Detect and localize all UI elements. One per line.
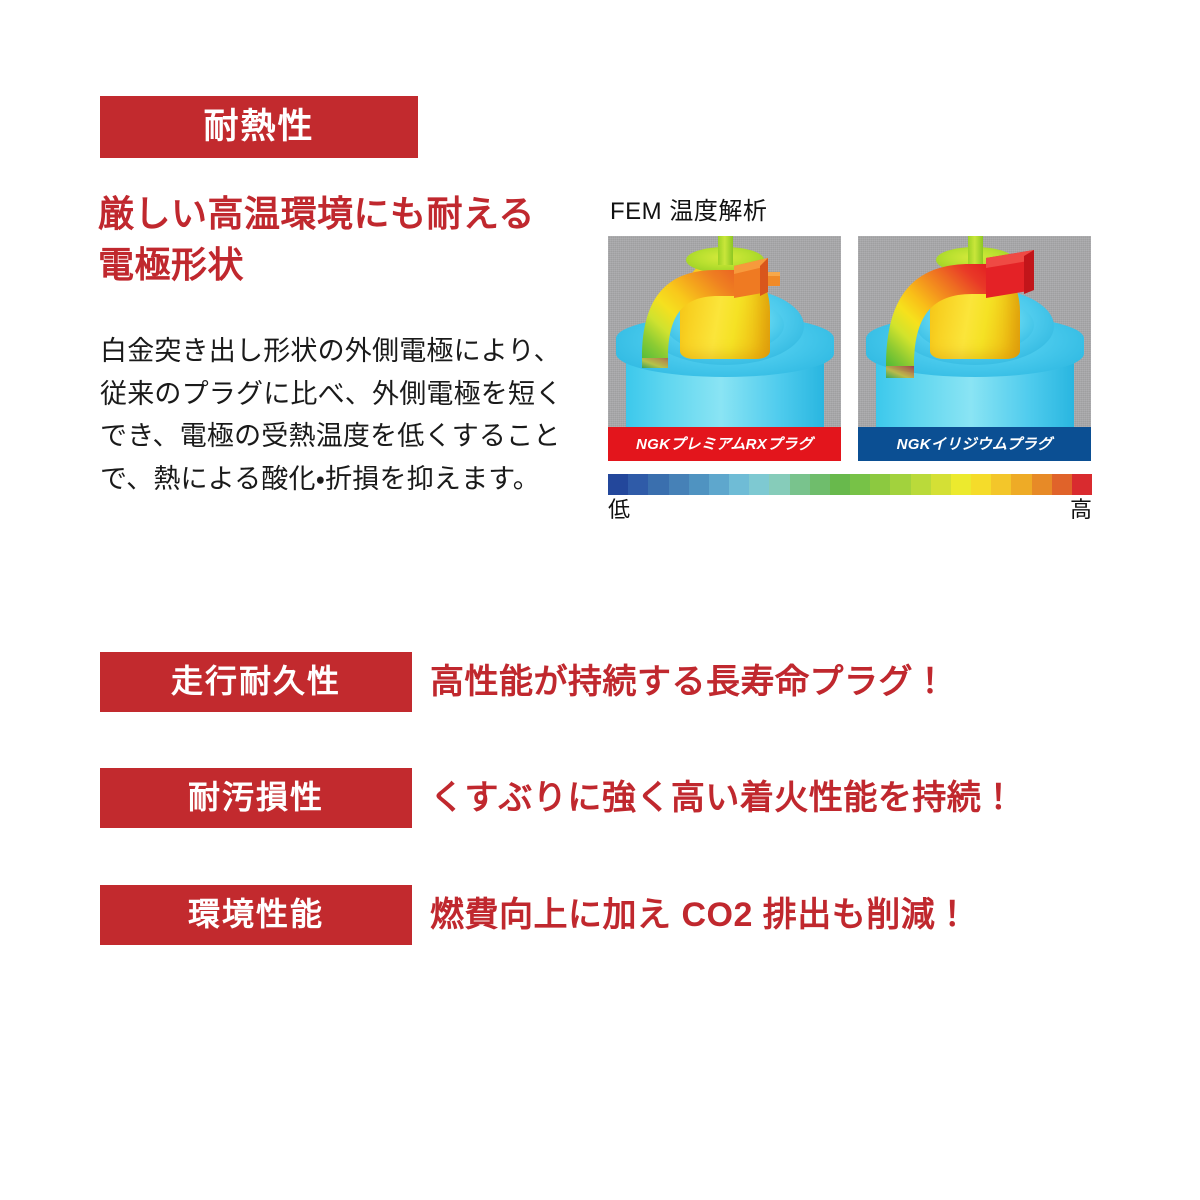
- colorbar-band: [648, 474, 668, 495]
- colorbar-band: [769, 474, 789, 495]
- heat-resistance-lead: 厳しい高温環境にも耐える 電極形状: [98, 188, 578, 290]
- feature-badge-environment-label: 環境性能: [188, 898, 324, 930]
- colorbar-band: [669, 474, 689, 495]
- fem-card-premium-rx: NGKプレミアムRXプラグ: [608, 236, 841, 461]
- fem-caption-premium-rx: NGKプレミアムRXプラグ: [608, 427, 841, 461]
- lead-line-2: 電極形状: [98, 239, 578, 290]
- fem-caption-iridium: NGKイリジウムプラグ: [858, 427, 1091, 461]
- colorbar-scale-labels: 低 高: [608, 497, 1092, 523]
- heat-resistance-badge-label: 耐熱性: [203, 109, 314, 144]
- colorbar-band: [628, 474, 648, 495]
- body-line-3: でき、電極の受熱温度を低くすること: [100, 415, 592, 458]
- fem-analysis-figure: FEM 温度解析: [608, 200, 1092, 523]
- fem-caption-premium-rx-label: NGKプレミアムRXプラグ: [636, 437, 813, 452]
- colorbar-band: [790, 474, 810, 495]
- feature-badge-durability: 走行耐久性: [100, 652, 412, 712]
- fem-caption-iridium-label: NGKイリジウムプラグ: [897, 437, 1053, 452]
- fem-title: FEM 温度解析: [610, 200, 1092, 224]
- scale-label-low: 低: [608, 497, 630, 523]
- colorbar-band: [951, 474, 971, 495]
- feature-row-fouling: 耐汚損性 くすぶりに強く高い着火性能を持続！: [100, 768, 1016, 828]
- colorbar-band: [689, 474, 709, 495]
- colorbar-band: [810, 474, 830, 495]
- scale-label-high: 高: [1070, 497, 1092, 523]
- body-line-4: で、熱による酸化・折損を抑えます。: [100, 458, 592, 501]
- colorbar-band: [749, 474, 769, 495]
- colorbar-band: [870, 474, 890, 495]
- feature-text-durability: 高性能が持続する長寿命プラグ！: [430, 665, 948, 699]
- colorbar-band: [991, 474, 1011, 495]
- body-line-1: 白金突き出し形状の外側電極により、: [100, 330, 592, 373]
- colorbar-band: [911, 474, 931, 495]
- heat-resistance-badge: 耐熱性: [100, 96, 418, 158]
- colorbar-band: [830, 474, 850, 495]
- body-line-2: 従来のプラグに比べ、外側電極を短く: [100, 373, 592, 416]
- temperature-colorbar: [608, 474, 1092, 495]
- heat-resistance-body: 白金突き出し形状の外側電極により、 従来のプラグに比べ、外側電極を短く でき、電…: [100, 330, 592, 501]
- colorbar-band: [608, 474, 628, 495]
- feature-badge-fouling-label: 耐汚損性: [188, 781, 324, 813]
- feature-row-environment: 環境性能 燃費向上に加え CO2 排出も削減！: [100, 885, 970, 945]
- colorbar-band: [1052, 474, 1072, 495]
- colorbar-band: [971, 474, 991, 495]
- feature-badge-fouling: 耐汚損性: [100, 768, 412, 828]
- colorbar-band: [931, 474, 951, 495]
- feature-badge-environment: 環境性能: [100, 885, 412, 945]
- feature-text-environment: 燃費向上に加え CO2 排出も削減！: [430, 898, 970, 932]
- feature-row-durability: 走行耐久性 高性能が持続する長寿命プラグ！: [100, 652, 948, 712]
- colorbar-band: [729, 474, 749, 495]
- colorbar-band: [1032, 474, 1052, 495]
- section-heat-resistance: 耐熱性 厳しい高温環境にも耐える 電極形状 白金突き出し形状の外側電極により、 …: [0, 0, 1200, 600]
- poster-root: 耐熱性 厳しい高温環境にも耐える 電極形状 白金突き出し形状の外側電極により、 …: [0, 0, 1200, 1200]
- lead-line-1: 厳しい高温環境にも耐える: [98, 188, 578, 239]
- fem-image-row: NGKプレミアムRXプラグ: [608, 236, 1092, 461]
- colorbar-band: [1011, 474, 1031, 495]
- feature-text-fouling: くすぶりに強く高い着火性能を持続！: [430, 781, 1016, 815]
- fem-card-iridium: NGKイリジウムプラグ: [858, 236, 1091, 461]
- feature-badge-durability-label: 走行耐久性: [171, 665, 341, 697]
- colorbar-band: [709, 474, 729, 495]
- colorbar-band: [850, 474, 870, 495]
- colorbar-band: [1072, 474, 1092, 495]
- colorbar-band: [890, 474, 910, 495]
